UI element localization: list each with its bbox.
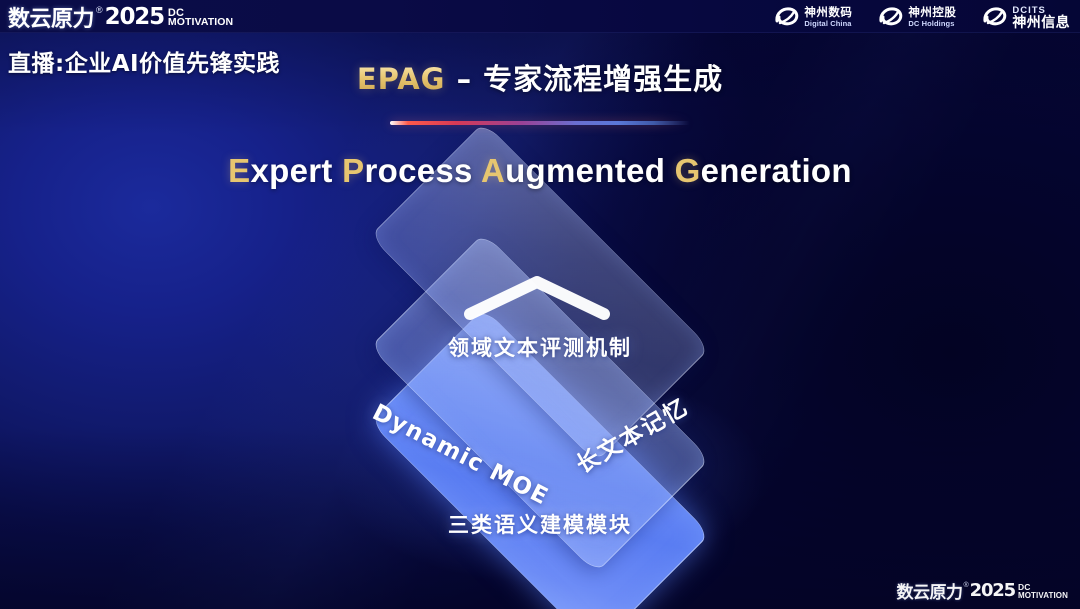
brand-dc-line2: MOTIVATION [168, 18, 233, 27]
chevron-up-icon [462, 272, 612, 322]
watermark-name-cn: 数云原力 [896, 578, 962, 603]
watermark-logo: 数云原力 ® 2025 DC MOTIVATION [896, 578, 1068, 603]
logo-dcits: DCITS 神州信息 [982, 5, 1070, 30]
logo-cn-name: 神州信息 [1012, 16, 1070, 30]
subtitle-word-generation: eneration [701, 152, 852, 189]
brand-logo: 数云原力 ® 2025 DC MOTIVATION [8, 2, 233, 32]
live-session-title: 直播:企业AI价值先锋实践 [8, 44, 280, 78]
subtitle-cap-g: G [675, 152, 701, 189]
subtitle-cap-p: P [342, 152, 364, 189]
gradient-divider [390, 121, 690, 125]
subtitle-cap-e: E [228, 152, 250, 189]
corporate-logo-group: 神州数码 Digital China 神州控股 DC Holdings DCIT… [774, 3, 1070, 31]
watermark-year: 2025 [970, 580, 1015, 601]
logo-en-name: Digital China [804, 20, 852, 28]
page-subtitle: Expert Process Augmented Generation [0, 152, 1080, 190]
brand-registered-mark: ® [96, 5, 103, 15]
subtitle-word-process: rocess [364, 152, 480, 189]
watermark-dc-motivation: DC MOTIVATION [1018, 584, 1068, 599]
swirl-icon [878, 6, 903, 28]
logo-digital-china-text: 神州数码 Digital China [804, 7, 852, 28]
subtitle-word-augmented: ugmented [505, 152, 675, 189]
page-title-rest: – 专家流程增强生成 [445, 62, 723, 96]
swirl-icon [774, 6, 799, 28]
brand-dc-motivation: DC MOTIVATION [168, 9, 233, 28]
logo-dcits-text: DCITS 神州信息 [1012, 5, 1070, 30]
stack-layer-bottom-label: 三类语义建模模块 [0, 509, 1080, 539]
brand-year: 2025 [105, 4, 164, 30]
subtitle-cap-a: A [481, 152, 505, 189]
watermark-dc-line2: MOTIVATION [1018, 592, 1068, 599]
slide-stage: 数云原力 ® 2025 DC MOTIVATION 直播:企业AI价值先锋实践 … [0, 0, 1080, 609]
brand-name-cn: 数云原力 [8, 1, 94, 33]
subtitle-word-expert: xpert [250, 152, 342, 189]
logo-cn-name: 神州控股 [908, 7, 956, 19]
logo-en-name: DC Holdings [908, 20, 956, 28]
logo-cn-name: 神州数码 [804, 7, 852, 19]
logo-digital-china: 神州数码 Digital China [774, 6, 852, 28]
logo-dc-holdings: 神州控股 DC Holdings [878, 6, 956, 28]
stack-layer-top-label: 领域文本评测机制 [0, 332, 1080, 362]
swirl-icon [982, 6, 1007, 28]
logo-dc-holdings-text: 神州控股 DC Holdings [908, 7, 956, 28]
page-title-accent: EPAG [357, 62, 446, 96]
watermark-registered-mark: ® [963, 582, 968, 589]
